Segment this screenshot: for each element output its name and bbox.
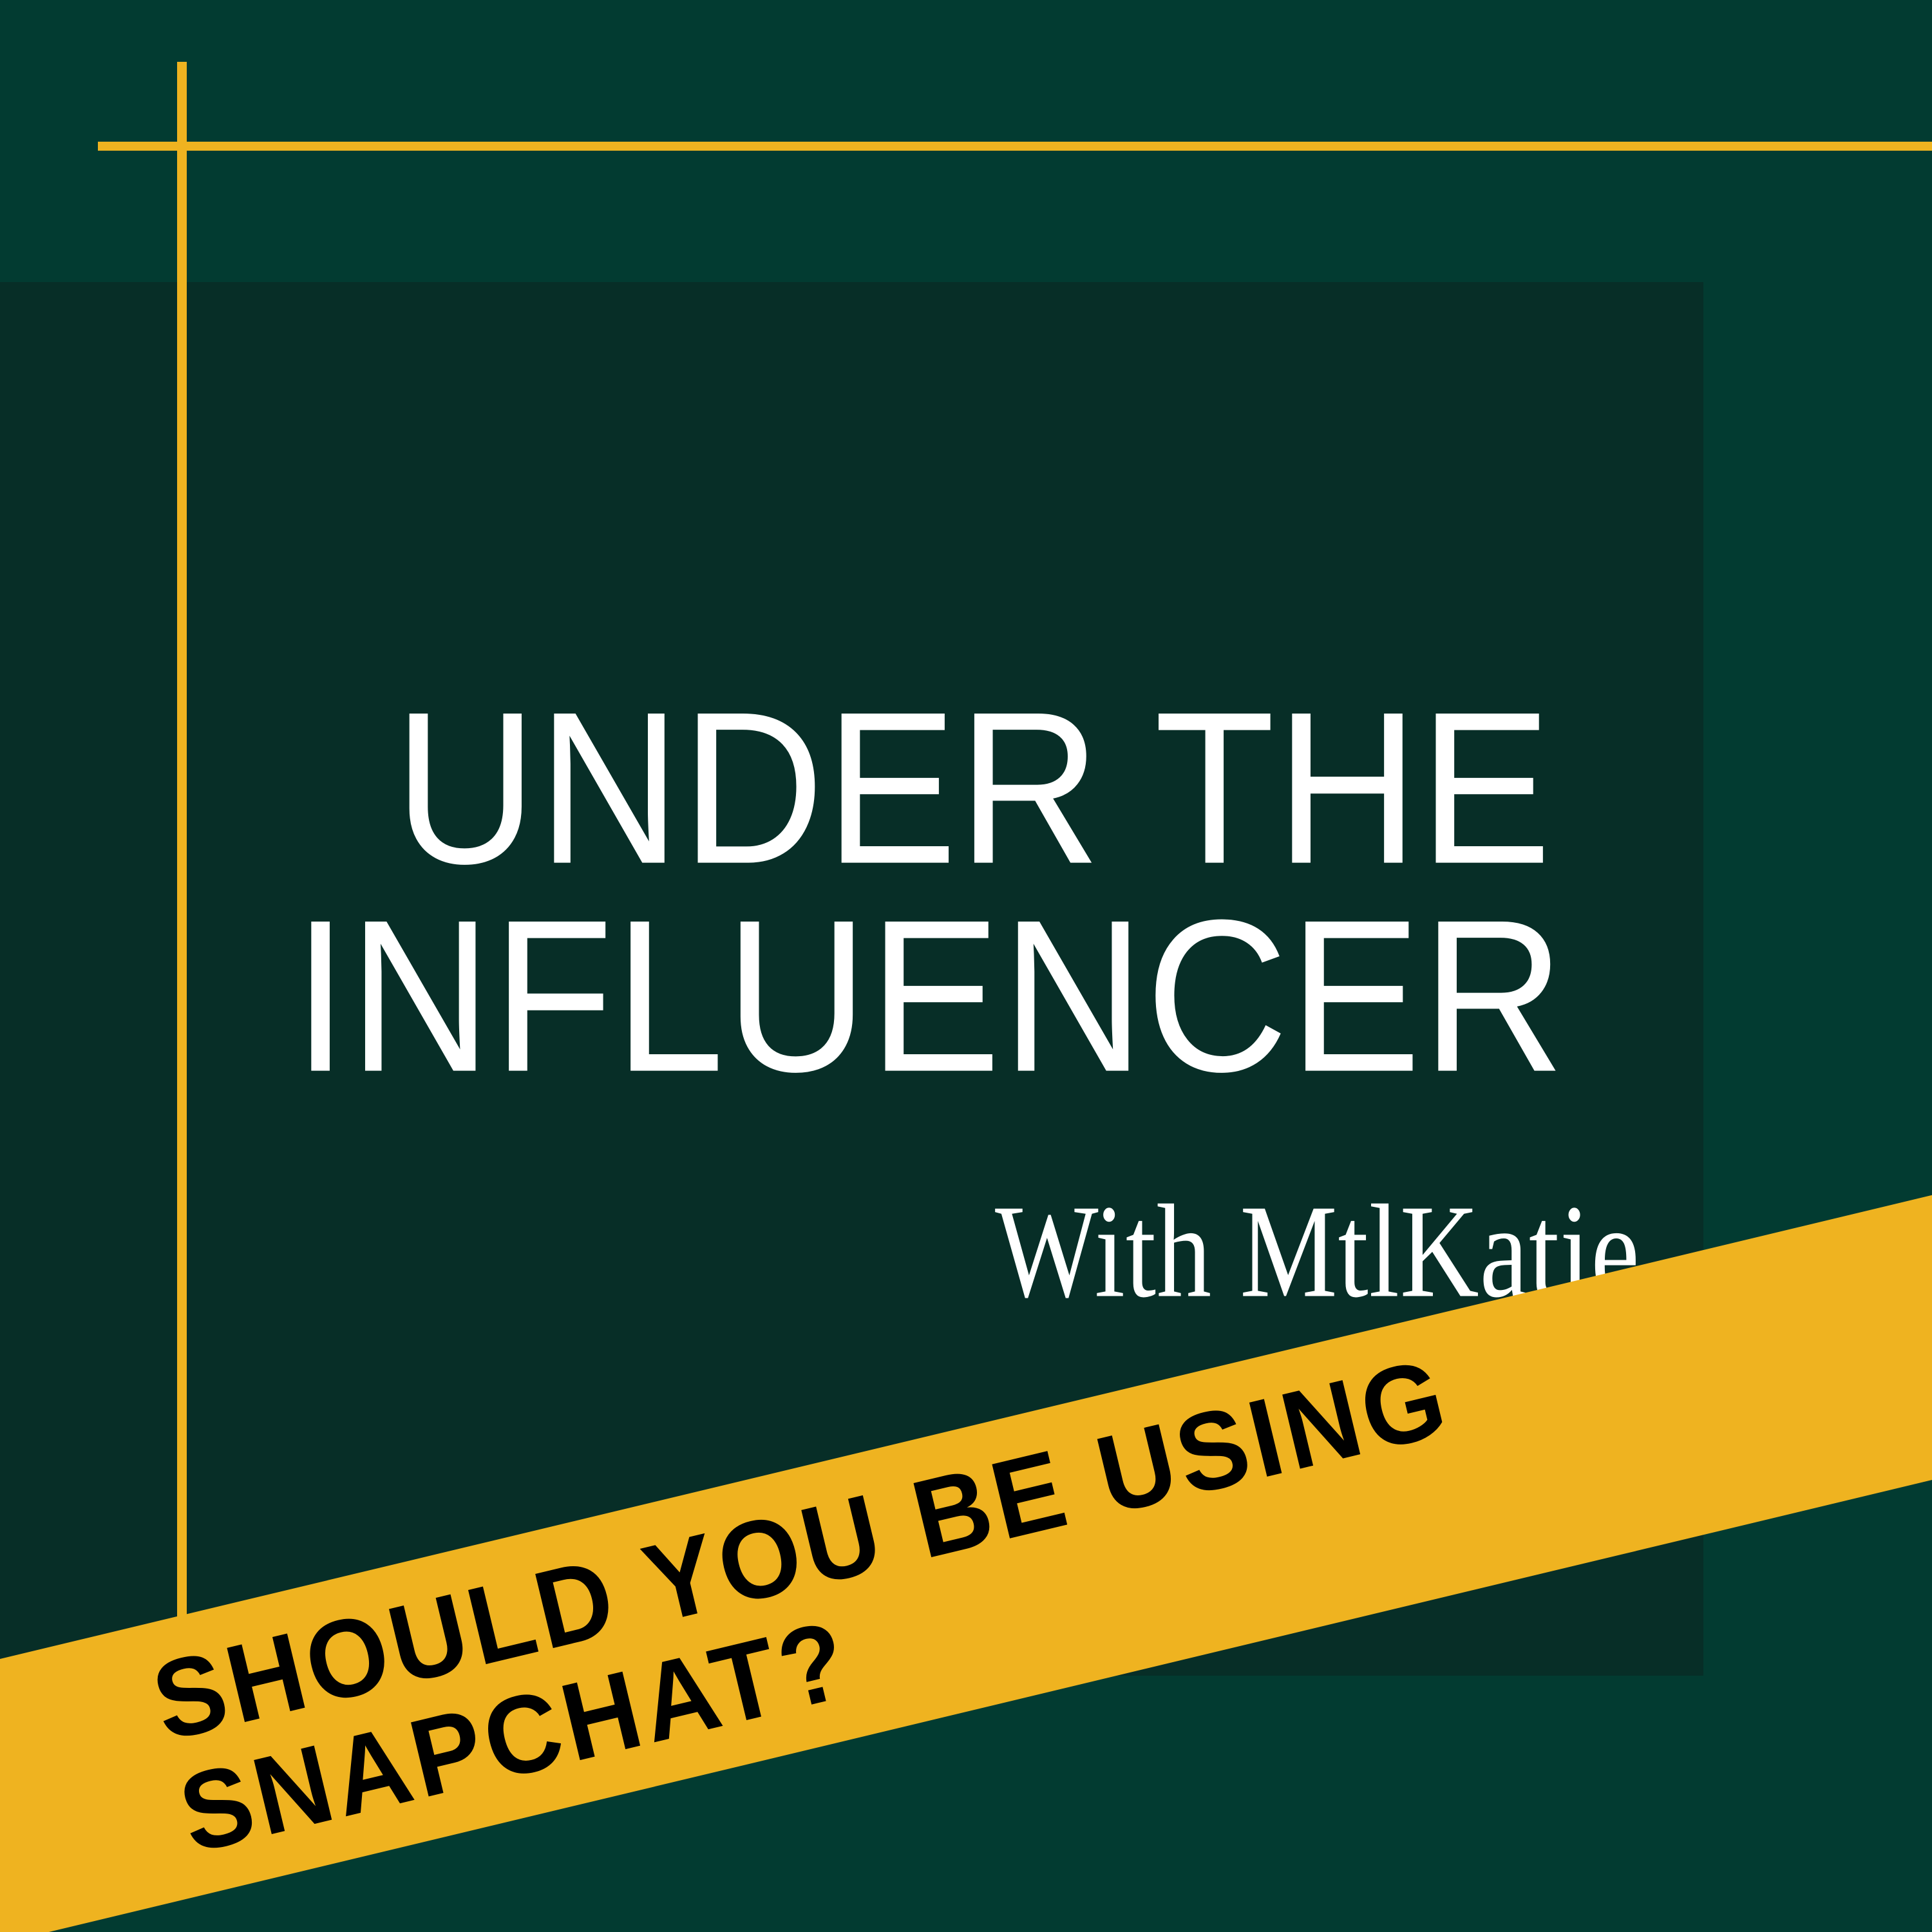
podcast-cover-art: UNDER THE INFLUENCER With MtlKatie SHOUL… xyxy=(0,0,1932,1932)
yellow-horizontal-rule xyxy=(98,142,1932,151)
yellow-vertical-rule xyxy=(177,62,187,1714)
